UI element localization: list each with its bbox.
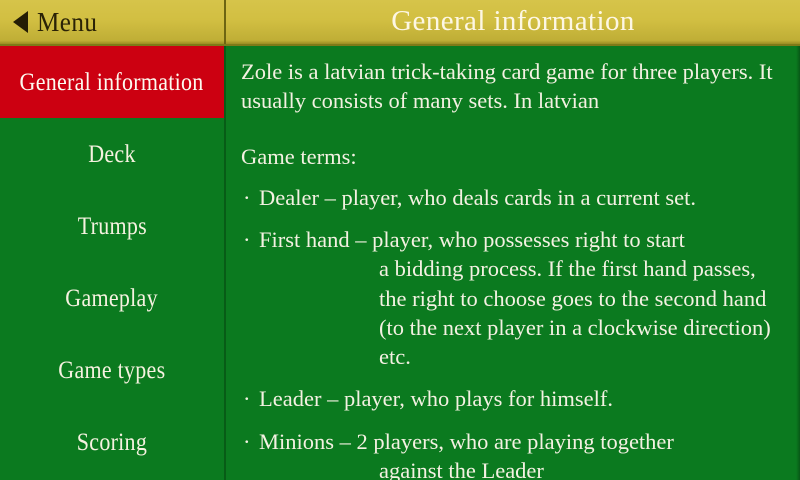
game-terms-heading: Game terms: xyxy=(241,142,784,171)
triangle-left-icon xyxy=(13,11,28,33)
page-title-container: General information xyxy=(226,0,800,44)
sidebar-item-game-types[interactable]: Game types xyxy=(0,334,224,406)
list-item-text: Minions – 2 players, who are playing tog… xyxy=(259,427,784,456)
list-item-text: Dealer – player, who deals cards in a cu… xyxy=(259,185,696,210)
app-header: Menu General information xyxy=(0,0,800,46)
sidebar-item-label: Gameplay xyxy=(66,286,159,311)
list-item-text: Leader – player, who plays for himself. xyxy=(259,386,613,411)
game-terms-list: · Dealer – player, who deals cards in a … xyxy=(241,183,784,480)
sidebar-item-trumps[interactable]: Trumps xyxy=(0,190,224,262)
sidebar-item-gameplay[interactable]: Gameplay xyxy=(0,262,224,334)
sidebar-item-label: Trumps xyxy=(77,214,146,239)
content-panel[interactable]: Zole is a latvian trick-taking card game… xyxy=(228,46,800,480)
sidebar-item-label: Deck xyxy=(88,142,135,167)
list-item-continuation: a bidding process. If the first hand pas… xyxy=(259,254,784,371)
app-root: Menu General information General informa… xyxy=(0,0,800,480)
list-item-text: First hand – player, who possesses right… xyxy=(259,225,784,254)
list-item: · Minions – 2 players, who are playing t… xyxy=(241,427,784,480)
paragraph-spacer xyxy=(241,116,784,142)
list-item: · Dealer – player, who deals cards in a … xyxy=(241,183,784,212)
back-button[interactable]: Menu xyxy=(0,0,226,44)
list-item: · Leader – player, who plays for himself… xyxy=(241,384,784,413)
intro-paragraph: Zole is a latvian trick-taking card game… xyxy=(241,57,784,116)
list-item: · First hand – player, who possesses rig… xyxy=(241,225,784,371)
content-body: Zole is a latvian trick-taking card game… xyxy=(241,57,784,480)
bullet-dot-icon: · xyxy=(243,384,251,413)
sidebar-item-deck[interactable]: Deck xyxy=(0,118,224,190)
sidebar-item-label: Game types xyxy=(58,358,165,383)
bullet-dot-icon: · xyxy=(243,225,251,254)
sidebar-nav[interactable]: General information Deck Trumps Gameplay… xyxy=(0,46,226,480)
back-button-label: Menu xyxy=(37,9,97,36)
bullet-dot-icon: · xyxy=(243,427,251,456)
sidebar-item-scoring[interactable]: Scoring xyxy=(0,406,224,478)
list-item-continuation: against the Leader xyxy=(259,456,784,480)
sidebar-item-label: Scoring xyxy=(77,430,147,455)
page-title: General information xyxy=(391,7,635,38)
sidebar-item-general-information[interactable]: General information xyxy=(0,46,224,118)
sidebar-item-label: General information xyxy=(20,70,204,95)
bullet-dot-icon: · xyxy=(243,183,251,212)
